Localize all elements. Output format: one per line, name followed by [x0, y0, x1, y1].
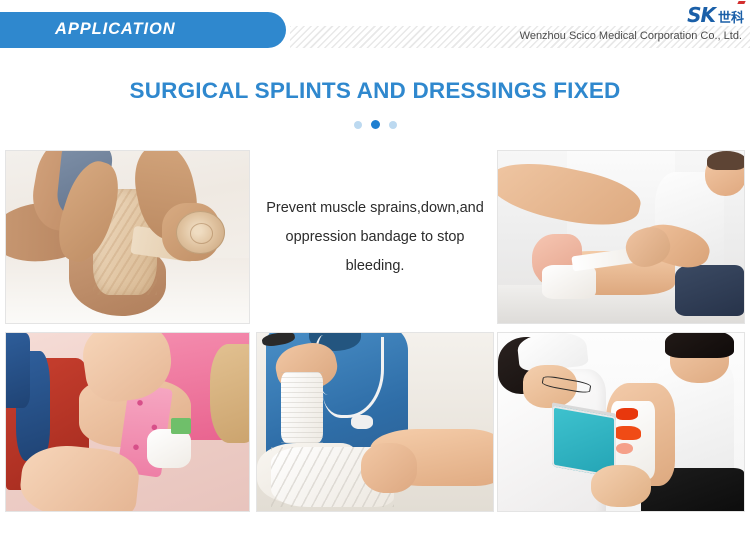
- description-text-block: Prevent muscle sprains,down,and oppressi…: [256, 150, 494, 324]
- photo-child-pink-bandage: [6, 333, 249, 511]
- page-title: SURGICAL SPLINTS AND DRESSINGS FIXED: [0, 78, 750, 104]
- carousel-dot-1[interactable]: [354, 121, 362, 129]
- gallery-photo-bottom-middle[interactable]: [256, 332, 494, 512]
- gallery-photo-bottom-left[interactable]: [5, 332, 250, 512]
- photo-doctor-foot-bandage: [257, 333, 493, 511]
- carousel-dot-3[interactable]: [389, 121, 397, 129]
- logo-sk-mark: SK: [687, 3, 715, 27]
- company-logo: SK 世科: [687, 3, 744, 22]
- application-page: APPLICATION SK 世科 Wenzhou Scico Medical …: [0, 0, 750, 536]
- logo-chinese-name: 世科: [718, 7, 744, 26]
- application-banner-label: APPLICATION: [55, 20, 176, 39]
- logo-accent-tick-icon: [737, 1, 745, 4]
- photo-therapist-foot-wrap: [498, 151, 744, 323]
- description-line-3: bleeding.: [346, 252, 405, 281]
- description-line-1: Prevent muscle sprains,down,and: [266, 194, 484, 223]
- page-header: APPLICATION SK 世科 Wenzhou Scico Medical …: [0, 0, 750, 58]
- gallery-photo-bottom-right[interactable]: [497, 332, 745, 512]
- gallery-photo-top-right[interactable]: [497, 150, 745, 324]
- photo-ankle-self-bandage: [6, 151, 249, 323]
- company-name: Wenzhou Scico Medical Corporation Co., L…: [520, 30, 742, 42]
- carousel-dot-2-active[interactable]: [371, 120, 380, 129]
- description-line-2: oppression bandage to stop: [286, 223, 465, 252]
- gallery-photo-top-left[interactable]: [5, 150, 250, 324]
- carousel-dots[interactable]: [0, 120, 750, 129]
- photo-nurse-arm-wound-dressing: [498, 333, 744, 511]
